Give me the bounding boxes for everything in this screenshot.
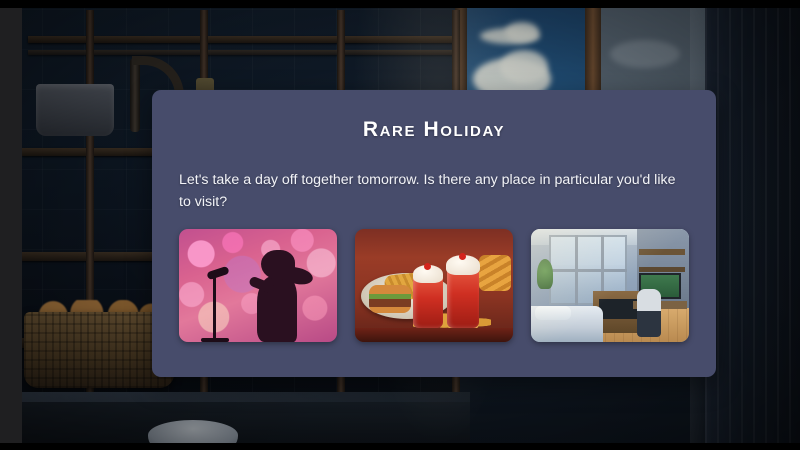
dialog-body-text: Let's take a day off together tomorrow. …	[179, 170, 689, 213]
game-screen: Rare Holiday Let's take a day off togeth…	[0, 0, 800, 450]
choice-option-room[interactable]	[531, 229, 689, 342]
fried-shrimp-icon	[479, 255, 511, 291]
plant-icon	[537, 259, 553, 289]
table-edge	[355, 328, 513, 342]
cherry-icon	[459, 253, 466, 260]
singer-silhouette	[249, 250, 315, 342]
bottom-letterbox-bar	[0, 443, 800, 450]
tv-object	[599, 299, 637, 319]
curtain-object	[705, 0, 800, 450]
pillow-object	[535, 306, 571, 320]
dialog-title: Rare Holiday	[152, 118, 716, 142]
choice-list	[179, 229, 689, 342]
top-letterbox-bar	[0, 0, 800, 8]
burger-object	[369, 285, 411, 313]
dialog-panel: Rare Holiday Let's take a day off togeth…	[152, 90, 716, 377]
microphone-stand-icon	[213, 272, 216, 342]
pot-object	[36, 84, 114, 136]
cloud-icon	[610, 40, 680, 68]
office-chair-object	[637, 289, 661, 337]
microphone-base-icon	[201, 338, 229, 342]
wall-shelf	[639, 267, 685, 272]
wall-shelf	[639, 249, 685, 255]
cloud-icon	[505, 22, 539, 42]
cloud-icon	[500, 50, 548, 84]
choice-option-concert[interactable]	[179, 229, 337, 342]
counter-highlight	[0, 392, 470, 402]
choice-option-food[interactable]	[355, 229, 513, 342]
drink-glass-object	[447, 266, 479, 328]
left-letterbox-strip	[0, 0, 22, 450]
cherry-icon	[424, 263, 431, 270]
window-mullion	[549, 269, 627, 272]
